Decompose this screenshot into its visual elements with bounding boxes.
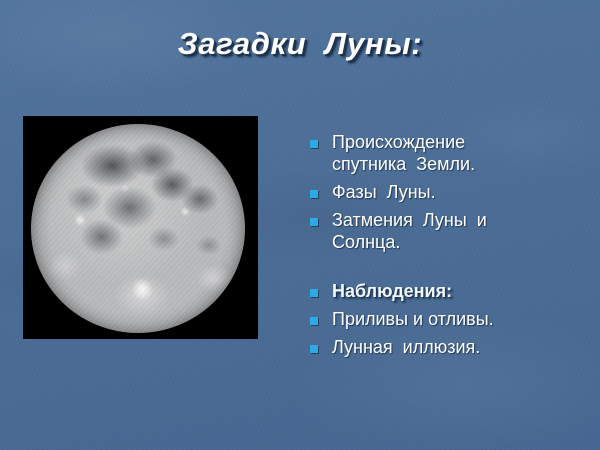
- list-item[interactable]: Происхождение спутника Земли.: [306, 131, 590, 175]
- bullet-list: Происхождение спутника Земли.Фазы Луны.З…: [306, 131, 590, 364]
- square-bullet-icon: [310, 345, 318, 353]
- list-item-label: Затмения Луны и Солнца.: [332, 209, 590, 253]
- square-bullet-icon: [310, 289, 318, 297]
- slide-title: Загадки Луны:: [0, 26, 600, 62]
- presentation-slide: Загадки Луны: Происхождение спутника Зем…: [0, 0, 600, 450]
- list-item-label: Происхождение спутника Земли.: [332, 131, 590, 175]
- square-bullet-icon: [310, 218, 318, 226]
- list-item[interactable]: Лунная иллюзия.: [306, 336, 590, 358]
- list-item-label: Приливы и отливы.: [332, 308, 590, 330]
- moon-image: [23, 116, 258, 339]
- list-item[interactable]: Фазы Луны.: [306, 181, 590, 203]
- list-item[interactable]: Наблюдения:: [306, 280, 590, 302]
- square-bullet-icon: [310, 317, 318, 325]
- list-item[interactable]: Приливы и отливы.: [306, 308, 590, 330]
- square-bullet-icon: [310, 140, 318, 148]
- list-item-label: Лунная иллюзия.: [332, 336, 590, 358]
- list-item-label: Фазы Луны.: [332, 181, 590, 203]
- moon-disc-icon: [31, 124, 245, 333]
- list-item[interactable]: Затмения Луны и Солнца.: [306, 209, 590, 253]
- list-item-label: Наблюдения:: [332, 280, 590, 302]
- square-bullet-icon: [310, 190, 318, 198]
